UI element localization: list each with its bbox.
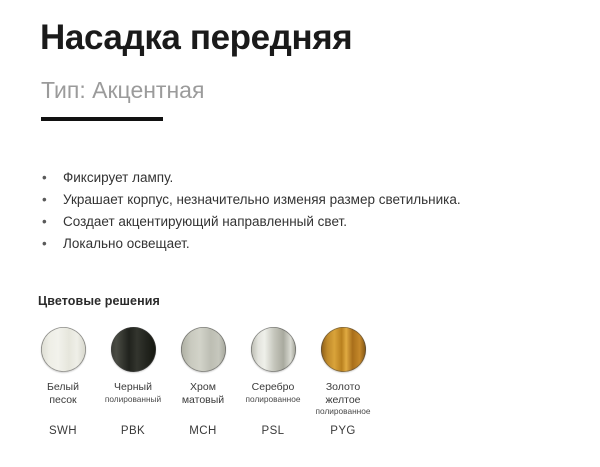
color-code-cell: PBK [98, 421, 168, 439]
color-code-cell: PYG [308, 421, 378, 439]
color-swatch-list: Белый песок Черный полированный Хром мат… [28, 327, 388, 417]
bullet-icon: • [42, 167, 50, 189]
page-title: Насадка передняя [40, 18, 352, 58]
color-swatch-labels: Серебро полированное [237, 381, 309, 404]
color-code: PBK [121, 425, 145, 437]
color-swatch-labels: Золото желтое полированное [307, 381, 379, 417]
color-name-line1: Серебро [237, 381, 309, 394]
color-name-line1: Золото [307, 381, 379, 394]
color-swatch-item[interactable]: Хром матовый [168, 327, 238, 406]
color-swatch-item[interactable]: Черный полированный [98, 327, 168, 404]
color-code: PSL [262, 425, 285, 437]
color-swatch-sand-white-icon[interactable] [41, 327, 86, 372]
list-item-label: Фиксирует лампу. [63, 167, 571, 189]
bullet-icon: • [42, 233, 50, 255]
color-code-cell: SWH [28, 421, 98, 439]
color-code: SWH [49, 425, 77, 437]
color-name-line1: Черный [97, 381, 169, 394]
color-name-line1: Белый [27, 381, 99, 394]
color-swatch-item[interactable]: Белый песок [28, 327, 98, 406]
list-item-label: Локально освещает. [63, 233, 571, 255]
color-swatch-polished-black-icon[interactable] [111, 327, 156, 372]
title-divider [41, 117, 163, 121]
color-name-line2: желтое [307, 394, 379, 407]
list-item-label: Создает акцентирующий направленный свет. [63, 211, 571, 233]
list-item: • Фиксирует лампу. [41, 167, 571, 189]
color-swatch-polished-yellow-gold-icon[interactable] [321, 327, 366, 372]
color-name-line2: полированный [97, 394, 169, 405]
list-item: • Создает акцентирующий направленный све… [41, 211, 571, 233]
bullet-icon: • [42, 189, 50, 211]
list-item-label: Украшает корпус, незначительно изменяя р… [63, 189, 571, 211]
color-swatch-item[interactable]: Золото желтое полированное [308, 327, 378, 417]
color-code: MCH [189, 425, 216, 437]
color-code-cell: PSL [238, 421, 308, 439]
page-subtitle: Тип: Акцентная [41, 77, 204, 104]
product-spec-page: Насадка передняя Тип: Акцентная • Фиксир… [0, 0, 600, 467]
color-name-line3: полированное [307, 406, 379, 417]
color-swatch-labels: Хром матовый [167, 381, 239, 406]
color-name-line2: полированное [237, 394, 309, 405]
feature-list: • Фиксирует лампу. • Украшает корпус, не… [41, 167, 571, 255]
color-swatch-item[interactable]: Серебро полированное [238, 327, 308, 404]
color-swatch-polished-silver-icon[interactable] [251, 327, 296, 372]
list-item: • Локально освещает. [41, 233, 571, 255]
color-swatch-labels: Белый песок [27, 381, 99, 406]
colors-section-heading: Цветовые решения [38, 294, 160, 308]
color-name-line2: песок [27, 394, 99, 407]
color-name-line1: Хром [167, 381, 239, 394]
list-item: • Украшает корпус, незначительно изменяя… [41, 189, 571, 211]
color-name-line2: матовый [167, 394, 239, 407]
color-swatch-matte-chrome-icon[interactable] [181, 327, 226, 372]
color-code: PYG [330, 425, 356, 437]
color-swatch-labels: Черный полированный [97, 381, 169, 404]
bullet-icon: • [42, 211, 50, 233]
color-code-cell: MCH [168, 421, 238, 439]
color-code-row: SWH PBK MCH PSL PYG [28, 421, 388, 439]
